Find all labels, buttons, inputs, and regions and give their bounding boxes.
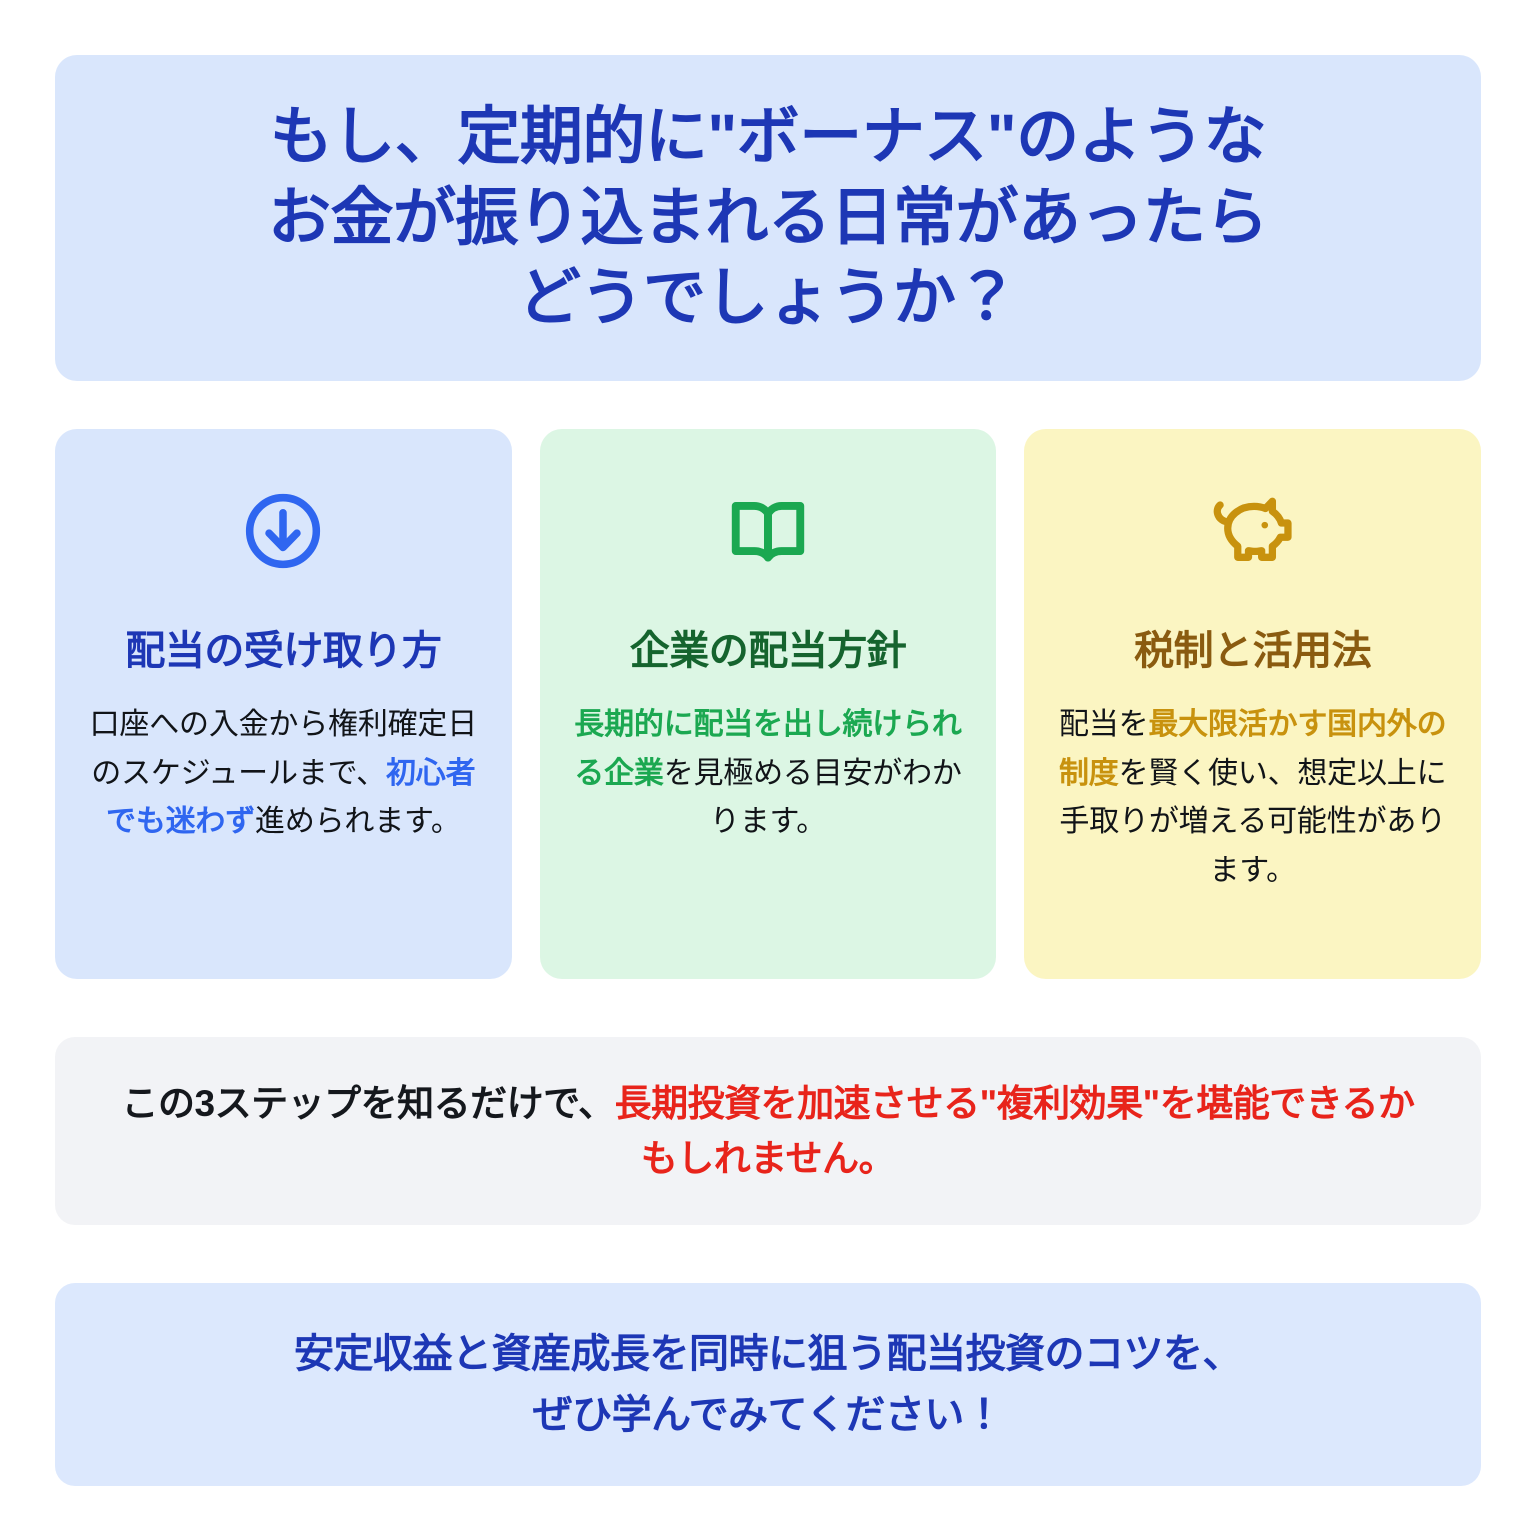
feature-card-list: 配当の受け取り方 口座への入金から権利確定日のスケジュールまで、初心者でも迷わず… — [55, 429, 1481, 979]
cta-banner[interactable]: 安定収益と資産成長を同時に狙う配当投資のコツを、 ぜひ学んでみてください！ — [55, 1283, 1481, 1486]
feature-card-title: 税制と活用法 — [1134, 627, 1371, 675]
feature-card-title: 企業の配当方針 — [630, 627, 907, 675]
summary-note-lead: この3ステップを知るだけで、 — [122, 1083, 615, 1124]
summary-note-banner: この3ステップを知るだけで、長期投資を加速させる"複利効果"を堪能できるかもしれ… — [55, 1037, 1481, 1225]
summary-note-accent: 長期投資を加速させる"複利効果"を堪能できるかもしれません。 — [615, 1083, 1415, 1180]
open-book-icon — [725, 481, 811, 581]
card-body-lead: 配当を — [1059, 708, 1148, 741]
feature-card-dividend-receipt[interactable]: 配当の受け取り方 口座への入金から権利確定日のスケジュールまで、初心者でも迷わず… — [55, 429, 512, 979]
hero-title: もし、定期的に"ボーナス"のような お金が振り込まれる日常があったら どうでしょ… — [268, 97, 1268, 339]
feature-card-body: 長期的に配当を出し続けられる企業を見極める目安がわかります。 — [574, 701, 963, 847]
card-body-tail: を見極める目安がわかります。 — [664, 757, 962, 839]
infographic-page: もし、定期的に"ボーナス"のような お金が振り込まれる日常があったら どうでしょ… — [0, 0, 1536, 1536]
card-body-tail: 進められます。 — [255, 805, 461, 838]
piggy-bank-icon — [1208, 481, 1298, 581]
feature-card-dividend-policy[interactable]: 企業の配当方針 長期的に配当を出し続けられる企業を見極める目安がわかります。 — [540, 429, 997, 979]
feature-card-tax-and-usage[interactable]: 税制と活用法 配当を最大限活かす国内外の制度を賢く使い、想定以上に手取りが増える… — [1024, 429, 1481, 979]
cta-text: 安定収益と資産成長を同時に狙う配当投資のコツを、 ぜひ学んでみてください！ — [294, 1324, 1242, 1446]
feature-card-body: 口座への入金から権利確定日のスケジュールまで、初心者でも迷わず進められます。 — [89, 701, 478, 847]
arrow-down-circle-icon — [240, 481, 326, 581]
summary-note-text: この3ステップを知るだけで、長期投資を加速させる"複利効果"を堪能できるかもしれ… — [115, 1076, 1421, 1187]
feature-card-body: 配当を最大限活かす国内外の制度を賢く使い、想定以上に手取りが増える可能性がありま… — [1058, 701, 1447, 895]
hero-banner: もし、定期的に"ボーナス"のような お金が振り込まれる日常があったら どうでしょ… — [55, 55, 1481, 381]
feature-card-title: 配当の受け取り方 — [125, 627, 441, 675]
